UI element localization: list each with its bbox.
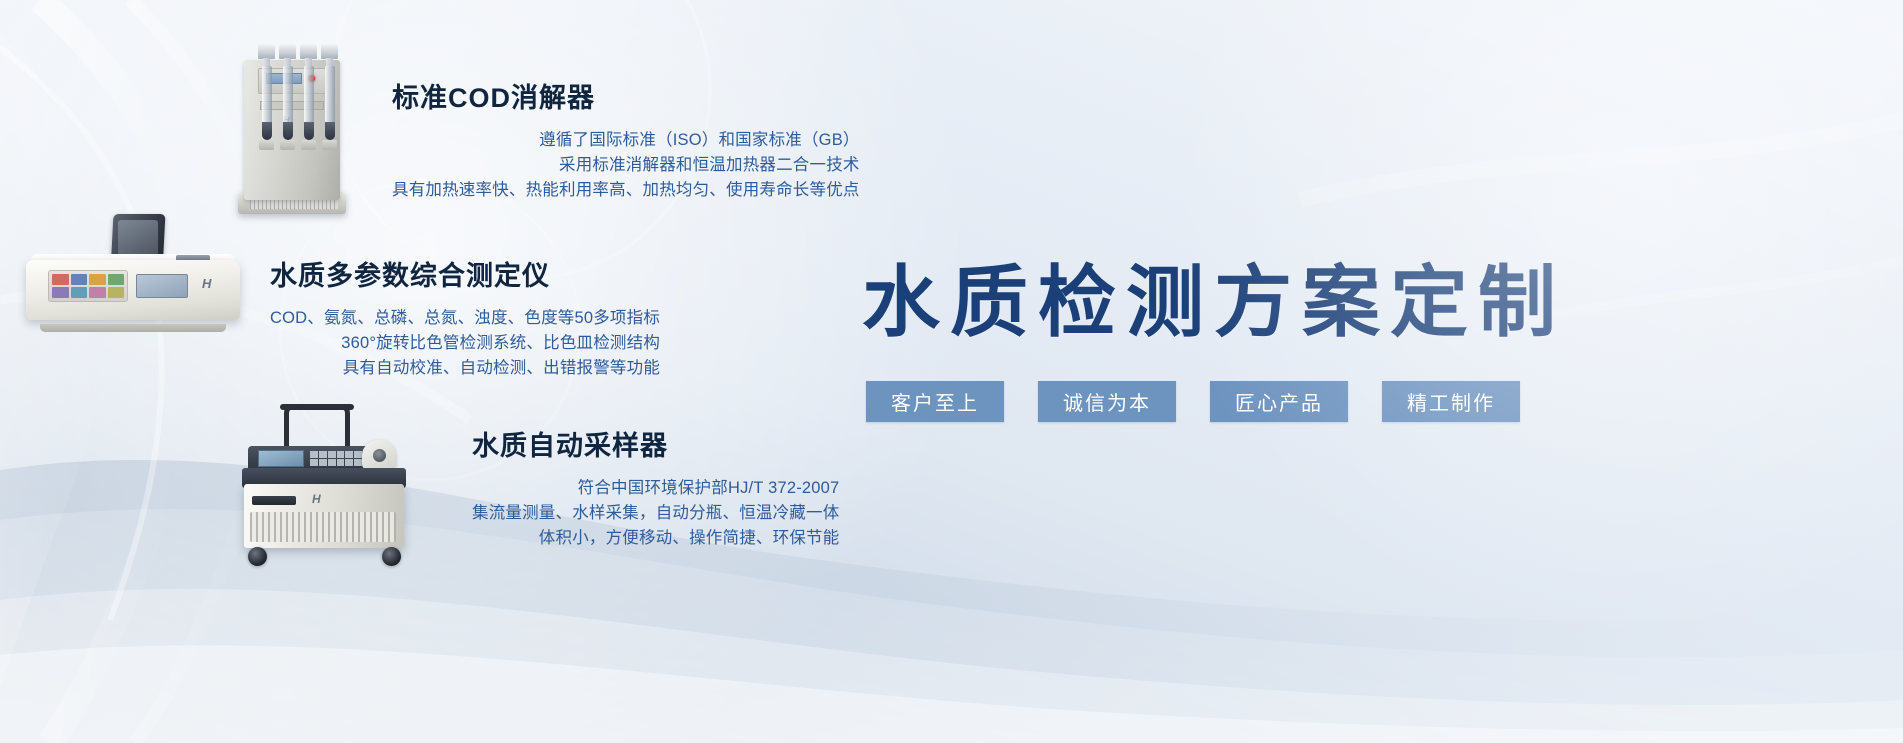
badge-customer-first[interactable]: 客户至上 (866, 381, 1004, 422)
sampler-handle-recess (252, 496, 296, 505)
badge-fine-workmanship[interactable]: 精工制作 (1382, 381, 1520, 422)
multi-parameter-analyzer-photo: H (26, 214, 240, 332)
sampler-handle (284, 404, 350, 450)
product-3-description: 符合中国环境保护部HJ/T 372-2007 集流量测量、水样采集，自动分瓶、恒… (472, 476, 839, 551)
value-proposition-badges: 客户至上 诚信为本 匠心产品 精工制作 (866, 381, 1520, 422)
product-2-title: 水质多参数综合测定仪 (270, 254, 660, 293)
sampler-handle-bar (280, 404, 354, 410)
analyzer-illustration: H (26, 214, 240, 332)
auto-water-sampler-photo: H (240, 404, 430, 566)
product-2-text: 水质多参数综合测定仪 COD、氨氮、总磷、总氮、浊度、色度等50多项指标 360… (270, 214, 660, 381)
product-3-desc-line: 集流量测量、水样采集，自动分瓶、恒温冷藏一体 (472, 501, 839, 526)
sampler-keypad (310, 451, 362, 466)
product-2-description: COD、氨氮、总磷、总氮、浊度、色度等50多项指标 360°旋转比色管检测系统、… (270, 306, 660, 381)
brand-mark-icon: H (202, 276, 211, 291)
pump-head-icon (373, 449, 386, 462)
product-row-1: H 标准COD消解器 遵循了国际标准（ISO）和国家标准（GB） 采用标准消 (236, 42, 860, 214)
digester-tube (258, 44, 275, 162)
badge-craftsmanship-product[interactable]: 匠心产品 (1210, 381, 1348, 422)
product-1-desc-line: 具有加热速率快、热能利用率高、加热均匀、使用寿命长等优点 (392, 178, 860, 203)
analyzer-keys (52, 274, 124, 298)
sampler-caster-wheel (248, 547, 267, 566)
sampler-display (258, 450, 304, 467)
product-3-title: 水质自动采样器 (472, 424, 839, 463)
product-1-title: 标准COD消解器 (392, 76, 860, 115)
brand-mark-icon: H (312, 492, 321, 506)
product-3-text: 水质自动采样器 符合中国环境保护部HJ/T 372-2007 集流量测量、水样采… (472, 404, 839, 551)
digester-tube (321, 44, 338, 162)
badge-integrity[interactable]: 诚信为本 (1038, 381, 1176, 422)
product-1-desc-line: 遵循了国际标准（ISO）和国家标准（GB） (392, 128, 860, 153)
product-2-desc-line: 360°旋转比色管检测系统、比色皿检测结构 (270, 331, 660, 356)
product-1-desc-line: 采用标准消解器和恒温加热器二合一技术 (392, 153, 860, 178)
cod-digester-illustration: H (236, 42, 348, 214)
product-row-2: H 水质多参数综合测定仪 COD、氨氮、总磷、总氮、浊度、色度等50多项指标 3… (26, 214, 660, 381)
water-quality-solution-banner: H 标准COD消解器 遵循了国际标准（ISO）和国家标准（GB） 采用标准消 (0, 0, 1903, 743)
product-2-desc-line: 具有自动校准、自动检测、出错报警等功能 (270, 356, 660, 381)
analyzer-display (136, 274, 188, 298)
product-row-3: H 水质自动采样器 符合中国环境保护部HJ/T 372-2007 集流量测量、水… (240, 404, 839, 566)
sampler-illustration: H (240, 404, 430, 566)
sampler-vent-grill (250, 512, 396, 542)
product-2-desc-line: COD、氨氮、总磷、总氮、浊度、色度等50多项指标 (270, 306, 660, 331)
product-3-desc-line: 体积小，方便移动、操作简捷、环保节能 (472, 526, 839, 551)
digester-tube (279, 44, 296, 162)
digester-tube (300, 44, 317, 162)
cod-digester-photo: H (236, 42, 348, 214)
product-3-desc-line: 符合中国环境保护部HJ/T 372-2007 (472, 476, 839, 501)
page-title: 水质检测方案定制 (862, 240, 1566, 352)
sampler-caster-wheel (382, 547, 401, 566)
product-1-description: 遵循了国际标准（ISO）和国家标准（GB） 采用标准消解器和恒温加热器二合一技术… (392, 128, 860, 203)
analyzer-base (40, 324, 226, 332)
product-1-text: 标准COD消解器 遵循了国际标准（ISO）和国家标准（GB） 采用标准消解器和恒… (392, 42, 860, 203)
